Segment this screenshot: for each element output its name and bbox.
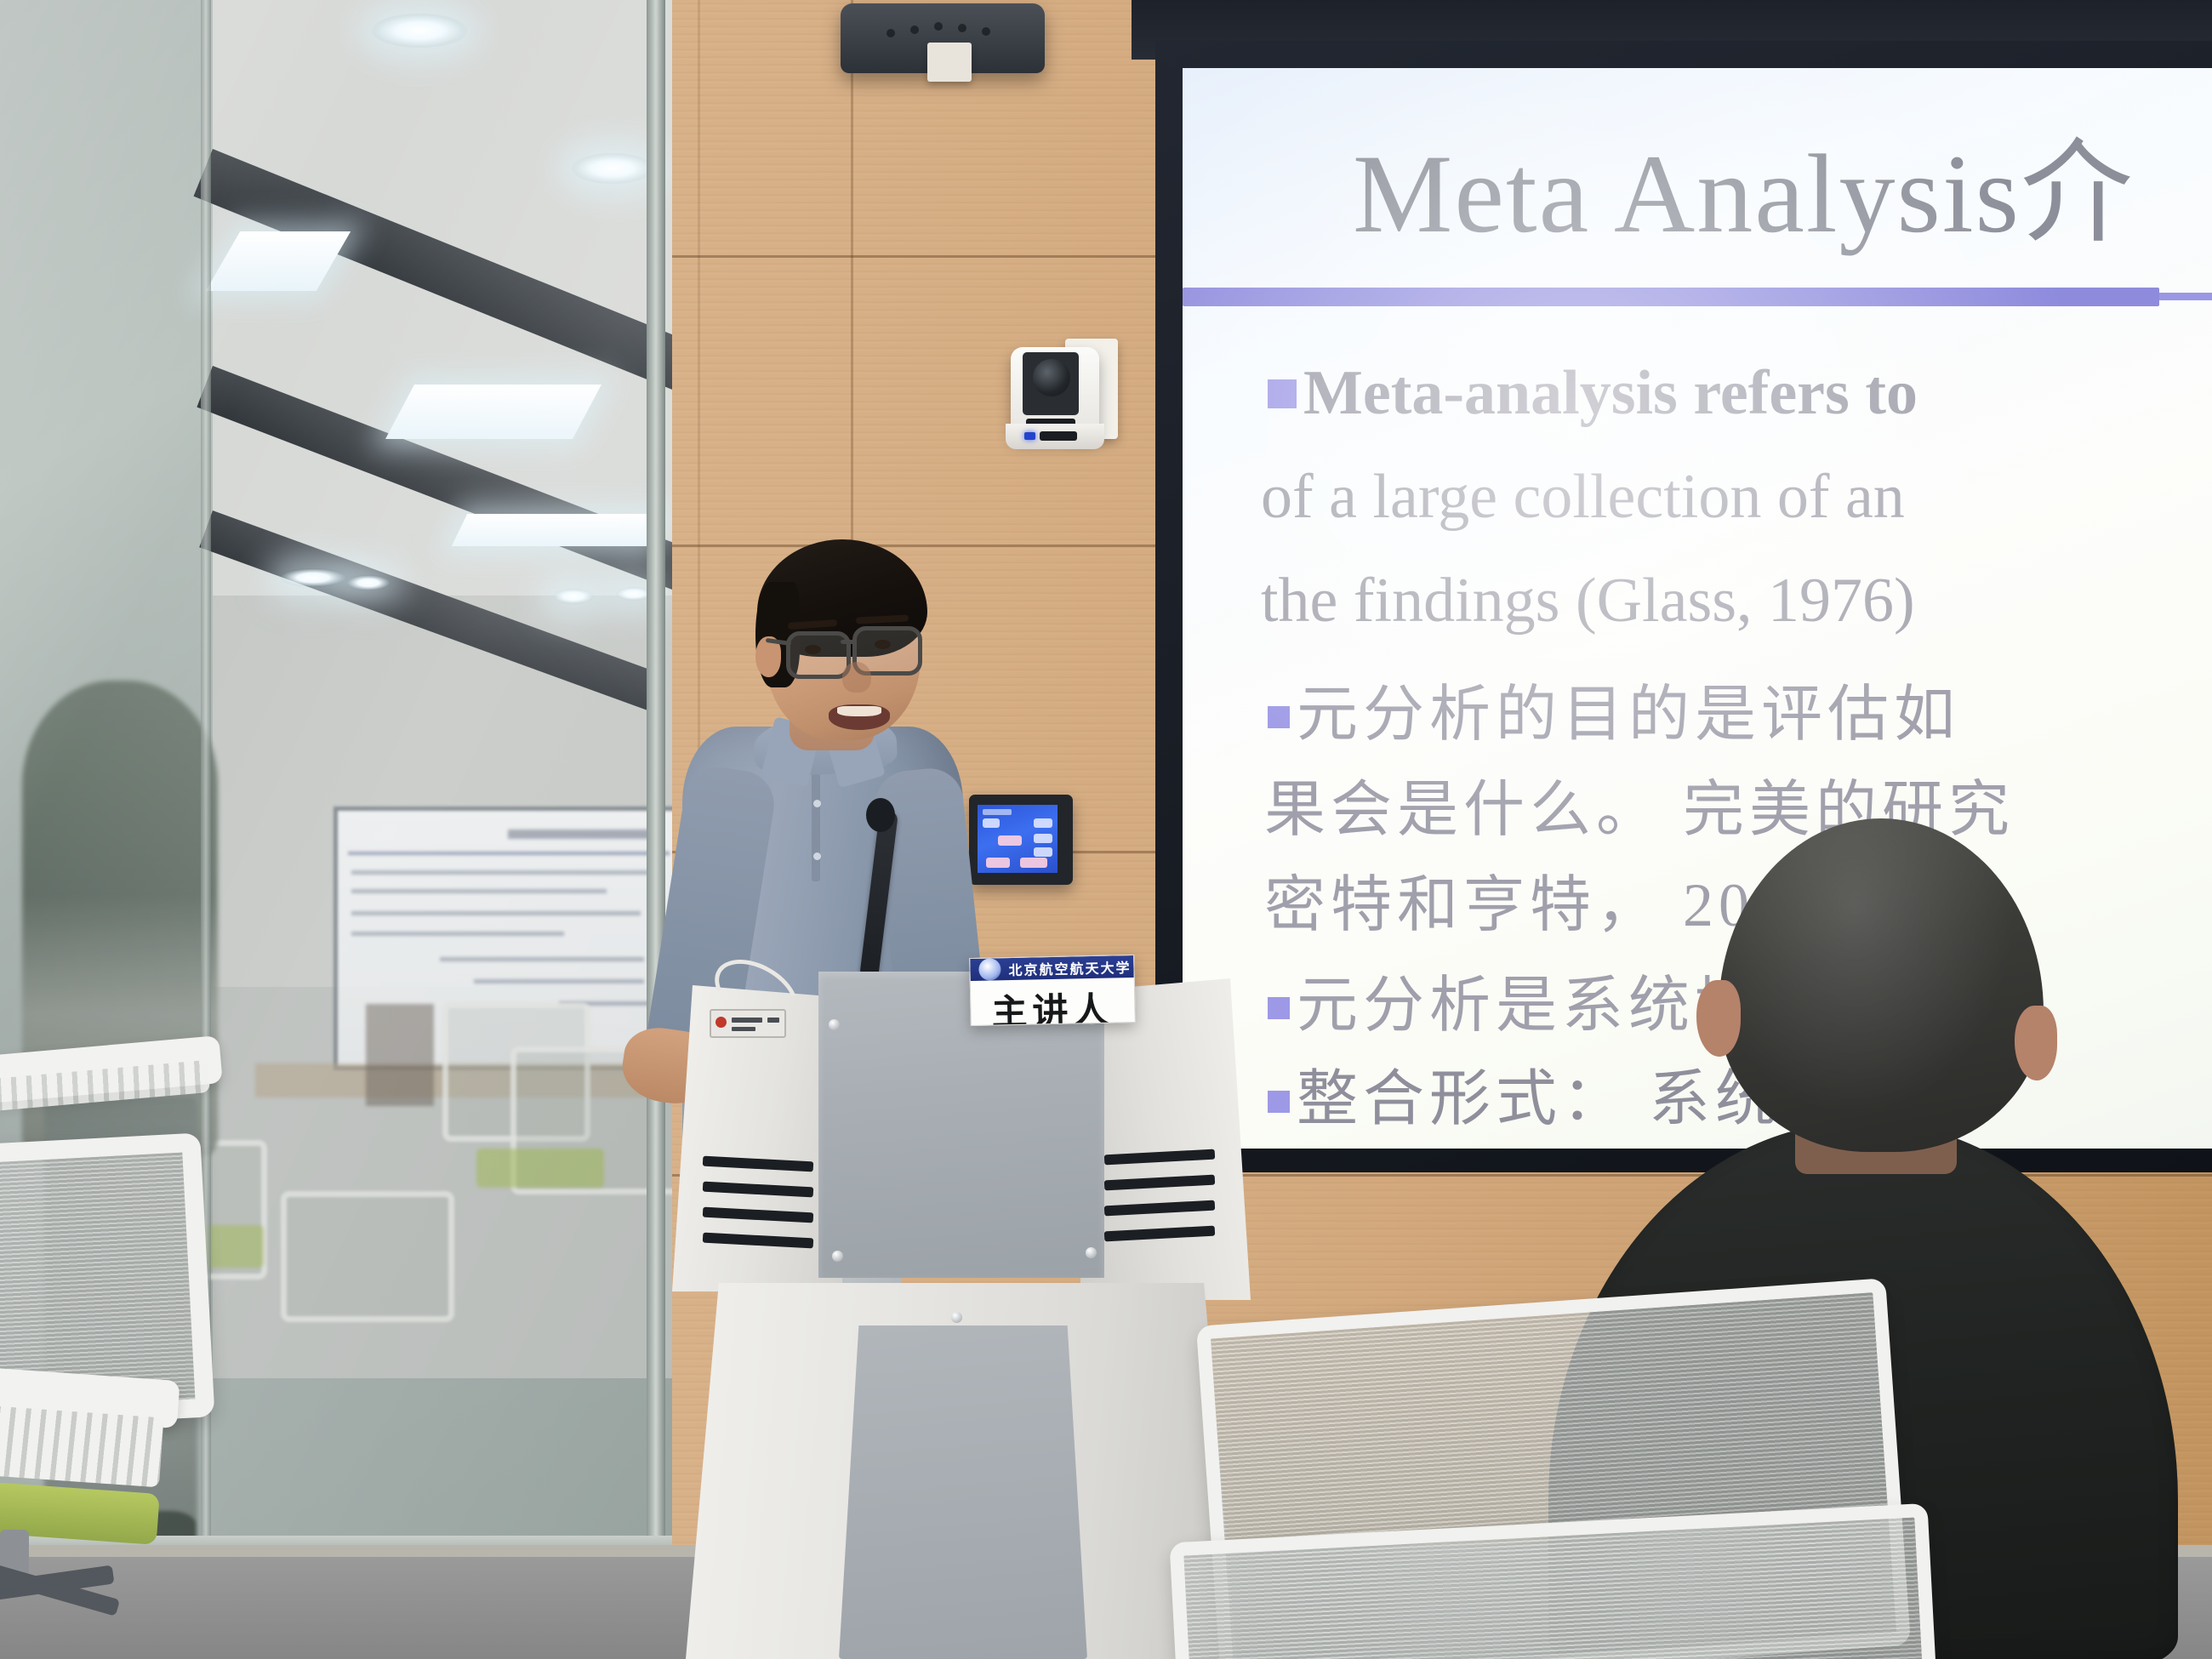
microphone-capsule-icon [866, 798, 895, 832]
nameplate-university-text: 北京航空航天大学 [1008, 956, 1131, 979]
camera-lens-icon [1033, 359, 1070, 396]
glasses-lens-left [786, 631, 851, 679]
audience-ear-left [1696, 980, 1741, 1057]
bullet-square-icon [1268, 997, 1290, 1019]
slide-title-text: Meta Analysis [1353, 131, 2021, 256]
presenter-teeth [837, 706, 881, 716]
bullet-square-icon [1268, 379, 1297, 408]
bullet-square-icon [1268, 1091, 1290, 1113]
presenter-eye-left [805, 645, 821, 654]
camera-status-led-icon [1024, 432, 1035, 440]
speaker-bracket [927, 43, 972, 82]
slide-bullet-line: the findings (Glass, 1976) [1261, 565, 1915, 637]
chair-left-front [0, 1132, 264, 1659]
audience-head-highlight [1719, 818, 2044, 1152]
bullet-square-icon [1268, 706, 1290, 728]
slide-title-tail: 介 [2021, 131, 2135, 256]
slide-bullet-line: Meta-analysis refers to [1268, 357, 1918, 430]
slide-bullet-line: 元分析的目的是评估如 [1268, 664, 1960, 753]
speaker-nameplate: 北京航空航天大学 主讲人 [969, 955, 1136, 1026]
slide-bullet-line: of a large collection of an [1261, 461, 1905, 533]
presenter-eye-right [875, 640, 891, 649]
presenter-nose [842, 662, 871, 693]
university-logo-icon [978, 958, 1001, 981]
camera-base [1006, 424, 1104, 449]
lecture-hall-photo: Meta Analysis介 Meta-analysis refers to o… [0, 0, 2212, 1659]
audience-ear-right [2015, 1006, 2057, 1080]
glasses-bridge [841, 640, 856, 644]
podium [672, 970, 1251, 1659]
chair-foreground-right-lower [1174, 1523, 1940, 1659]
podium-wing-right [1080, 978, 1251, 1300]
nameplate-role-text: 主讲人 [971, 981, 1135, 1026]
podium-body-inset [839, 1325, 1087, 1659]
chair-backrest-lower [1170, 1503, 1938, 1659]
nameplate-university-band: 北京航空航天大学 [970, 955, 1134, 981]
slide-title: Meta Analysis介 [1353, 102, 2135, 265]
slide-divider-tail [2159, 293, 2212, 300]
slide-divider [1183, 288, 2159, 306]
